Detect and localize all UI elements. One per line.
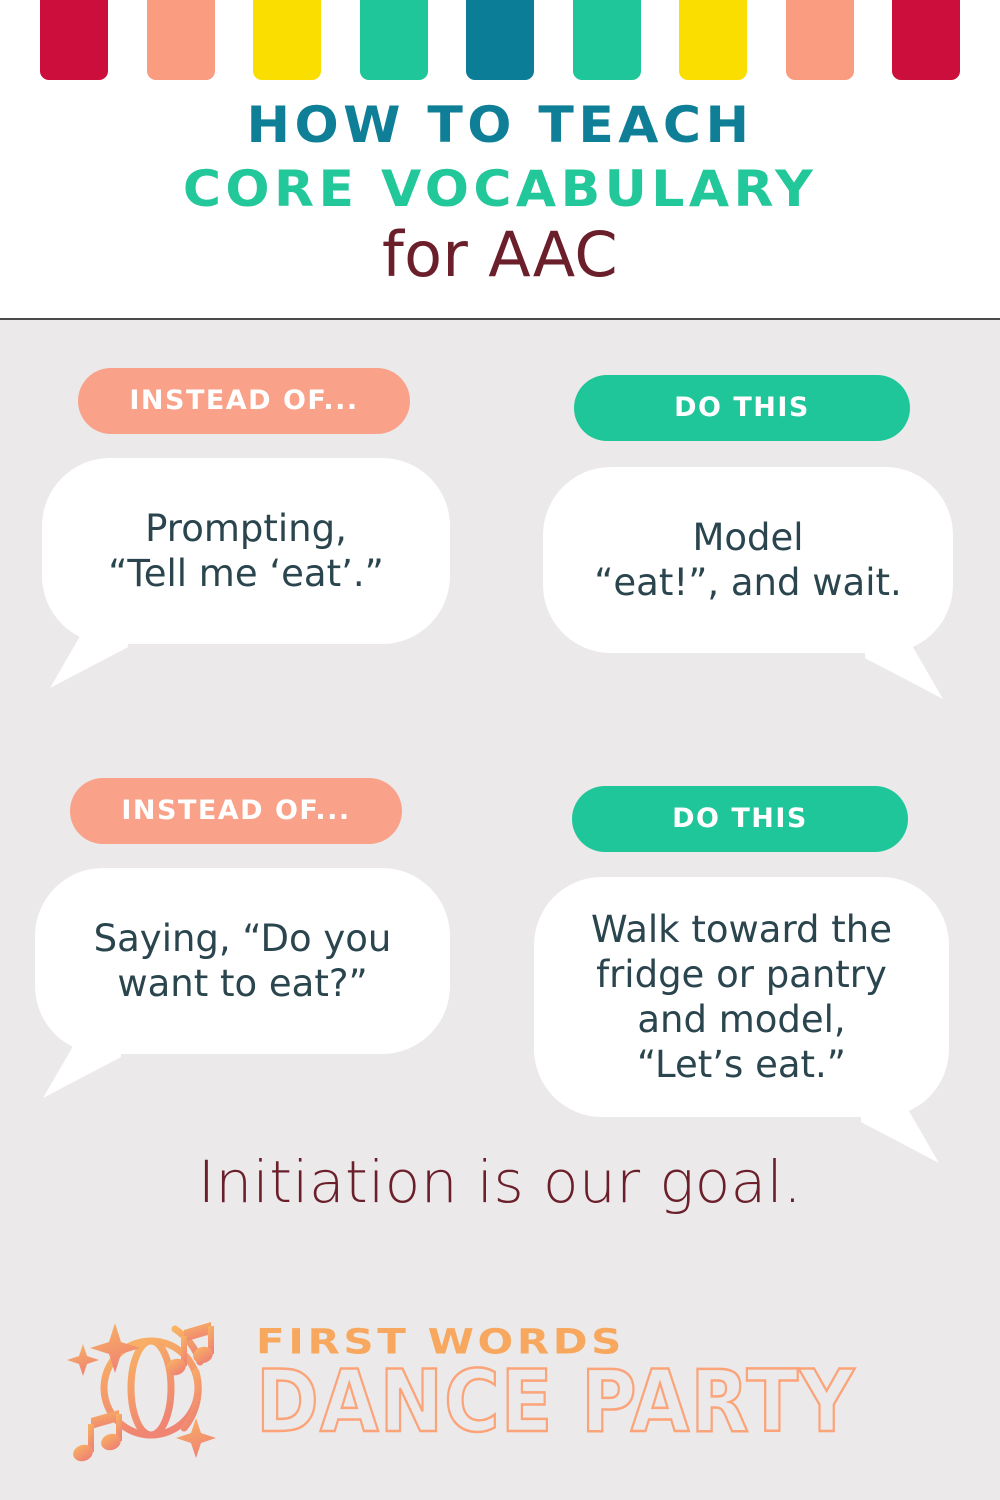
infographic-poster: HOW TO TEACH CORE VOCABULARY for AAC INS…	[0, 0, 1000, 1500]
disco-ball-icon	[63, 1300, 238, 1465]
page-title: HOW TO TEACH CORE VOCABULARY for AAC	[0, 100, 1000, 287]
bubble-do-this-2: Walk toward the fridge or pantry and mod…	[534, 877, 949, 1117]
logo-wordmark: FIRST WORDS DANCE PARTY	[256, 1321, 937, 1445]
card-instead-of-1: INSTEAD OF...	[78, 368, 410, 434]
stripe-9	[892, 0, 960, 80]
stripe-1	[40, 0, 108, 80]
tagline: Initiation is our goal.	[0, 1148, 1000, 1216]
label-instead-of-1: INSTEAD OF...	[78, 368, 410, 434]
speech-bubble-text-1: Prompting, “Tell me ‘eat’.”	[94, 506, 398, 596]
comparison-row-2: INSTEAD OF... Saying, “Do you want to ea…	[0, 740, 1000, 1160]
stripe-3	[253, 0, 321, 80]
bubble-tail-left-1	[50, 626, 128, 688]
label-instead-of-2: INSTEAD OF...	[70, 778, 402, 844]
card-do-this-1: DO THIS	[574, 375, 910, 441]
speech-bubble-1: Prompting, “Tell me ‘eat’.”	[42, 458, 450, 644]
label-do-this-1: DO THIS	[574, 375, 910, 441]
stripe-6	[573, 0, 641, 80]
bubble-instead-of-2: Saying, “Do you want to eat?”	[35, 868, 450, 1054]
brand-logo: FIRST WORDS DANCE PARTY	[0, 1300, 1000, 1465]
stripe-7	[679, 0, 747, 80]
label-do-this-2: DO THIS	[572, 786, 908, 852]
speech-bubble-4: Walk toward the fridge or pantry and mod…	[534, 877, 949, 1117]
title-line-2: CORE VOCABULARY	[0, 164, 1000, 214]
speech-bubble-text-3: Saying, “Do you want to eat?”	[80, 916, 406, 1006]
speech-bubble-2: Model “eat!”, and wait.	[543, 467, 953, 653]
color-stripe-band	[0, 0, 1000, 80]
title-line-1: HOW TO TEACH	[0, 100, 1000, 150]
speech-bubble-text-4: Walk toward the fridge or pantry and mod…	[577, 907, 906, 1088]
speech-bubble-text-2: Model “eat!”, and wait.	[580, 515, 916, 605]
comparison-cards: INSTEAD OF... Prompting, “Tell me ‘eat’.…	[0, 320, 1000, 1160]
stripe-2	[147, 0, 215, 80]
bubble-tail-right-1	[865, 637, 943, 699]
card-instead-of-2: INSTEAD OF...	[70, 778, 402, 844]
stripe-4	[360, 0, 428, 80]
bubble-tail-left-2	[43, 1036, 121, 1098]
logo-line-dance-party: DANCE PARTY	[256, 1359, 855, 1445]
stripe-8	[786, 0, 854, 80]
poster-header: HOW TO TEACH CORE VOCABULARY for AAC	[0, 0, 1000, 320]
stripe-5	[466, 0, 534, 80]
title-line-3: for AAC	[0, 222, 1000, 287]
bubble-instead-of-1: Prompting, “Tell me ‘eat’.”	[42, 458, 450, 644]
comparison-row-1: INSTEAD OF... Prompting, “Tell me ‘eat’.…	[0, 320, 1000, 740]
speech-bubble-3: Saying, “Do you want to eat?”	[35, 868, 450, 1054]
bubble-do-this-1: Model “eat!”, and wait.	[543, 467, 953, 653]
card-do-this-2: DO THIS	[572, 786, 908, 852]
